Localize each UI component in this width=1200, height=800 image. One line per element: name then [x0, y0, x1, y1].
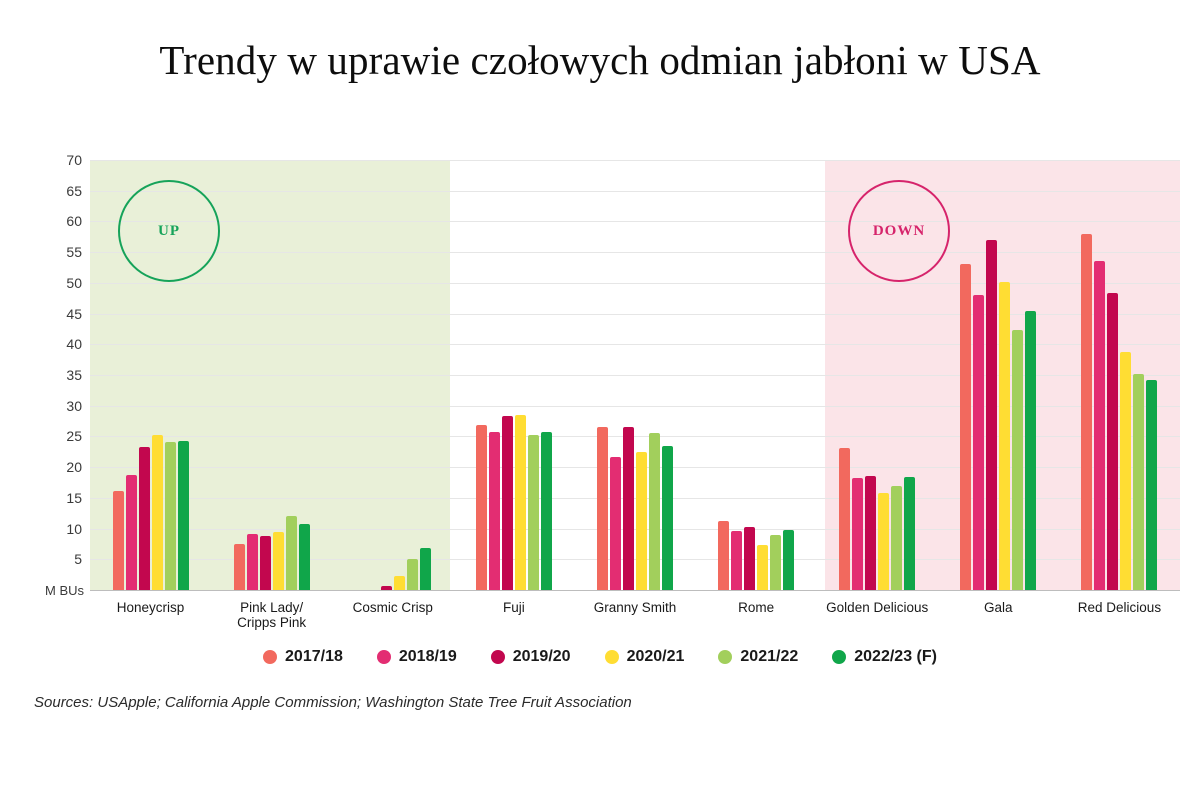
legend-item[interactable]: 2017/18: [263, 648, 343, 666]
category-label: Honeycrisp: [90, 600, 211, 615]
y-axis-tick-label: 55: [36, 245, 82, 259]
bar: [1120, 352, 1131, 590]
legend-label: 2020/21: [627, 648, 685, 666]
bar: [865, 476, 876, 590]
bar: [407, 559, 418, 590]
bar: [1081, 234, 1092, 590]
bar-group: [453, 160, 574, 590]
bar: [286, 516, 297, 590]
bar: [126, 475, 137, 590]
legend-item[interactable]: 2022/23 (F): [832, 648, 937, 666]
legend-swatch-icon: [377, 650, 391, 664]
bar: [541, 432, 552, 590]
bar: [999, 282, 1010, 590]
bar-group: [696, 160, 817, 590]
bar: [973, 295, 984, 590]
bar: [770, 535, 781, 590]
bar: [783, 530, 794, 590]
legend-label: 2021/22: [740, 648, 798, 666]
y-axis-tick-label: 35: [36, 368, 82, 382]
page-title: Trendy w uprawie czołowych odmian jabłon…: [0, 36, 1200, 84]
bar: [476, 425, 487, 590]
bar: [610, 457, 621, 590]
y-axis-unit-label: M BUs: [32, 583, 84, 598]
bar: [152, 435, 163, 590]
bar: [852, 478, 863, 590]
y-axis-tick-label: 50: [36, 276, 82, 290]
annotation-up-circle: UP: [118, 180, 220, 282]
legend-item[interactable]: 2020/21: [605, 648, 685, 666]
bar: [113, 491, 124, 591]
bar: [1146, 380, 1157, 590]
bar: [247, 534, 258, 591]
legend-swatch-icon: [718, 650, 732, 664]
y-axis-tick-label: 60: [36, 214, 82, 228]
category-label: Golden Delicious: [817, 600, 938, 615]
legend-item[interactable]: 2021/22: [718, 648, 798, 666]
bar: [904, 477, 915, 590]
plot-area: [90, 160, 1180, 590]
bar: [731, 531, 742, 590]
category-label: Red Delicious: [1059, 600, 1180, 615]
bar: [757, 545, 768, 590]
y-axis-tick-label: 5: [36, 552, 82, 566]
legend-item[interactable]: 2019/20: [491, 648, 571, 666]
bar: [878, 493, 889, 590]
bar: [649, 433, 660, 590]
bar-group: [1059, 160, 1180, 590]
bar: [1107, 293, 1118, 590]
category-label: Granny Smith: [574, 600, 695, 615]
legend-swatch-icon: [605, 650, 619, 664]
bar: [299, 524, 310, 590]
legend-label: 2022/23 (F): [854, 648, 937, 666]
annotation-down-circle: DOWN: [848, 180, 950, 282]
bar: [891, 486, 902, 590]
y-axis-tick-label: 70: [36, 153, 82, 167]
bar: [744, 527, 755, 590]
legend-label: 2018/19: [399, 648, 457, 666]
sources-note: Sources: USApple; California Apple Commi…: [34, 694, 632, 711]
bar: [420, 548, 431, 590]
category-label: Fuji: [453, 600, 574, 615]
bar: [1094, 261, 1105, 590]
bar: [623, 427, 634, 590]
bar: [178, 441, 189, 590]
legend-label: 2017/18: [285, 648, 343, 666]
bar: [394, 576, 405, 590]
y-axis-tick-label: 25: [36, 429, 82, 443]
bar: [1025, 311, 1036, 591]
bar: [381, 586, 392, 590]
category-label: Pink Lady/Cripps Pink: [211, 600, 332, 630]
x-axis-baseline: [90, 590, 1180, 591]
bar: [165, 442, 176, 590]
bar: [234, 544, 245, 590]
y-axis-tick-label: 10: [36, 522, 82, 536]
bar: [273, 532, 284, 590]
bar: [528, 435, 539, 590]
y-axis-tick-label: 45: [36, 307, 82, 321]
bar: [489, 432, 500, 590]
y-axis-tick-label: 65: [36, 184, 82, 198]
annotation-up-label: UP: [158, 223, 180, 240]
bar: [636, 452, 647, 590]
legend-label: 2019/20: [513, 648, 571, 666]
bar: [662, 446, 673, 590]
y-axis: 706560555045403530252015105: [34, 160, 82, 590]
bar: [960, 264, 971, 590]
legend-swatch-icon: [263, 650, 277, 664]
bar: [986, 240, 997, 590]
bar: [1012, 330, 1023, 590]
y-axis-tick-label: 20: [36, 460, 82, 474]
bar: [597, 427, 608, 590]
bar: [502, 416, 513, 590]
bar-group: [574, 160, 695, 590]
y-axis-tick-label: 30: [36, 399, 82, 413]
y-axis-tick-label: 15: [36, 491, 82, 505]
category-label: Gala: [938, 600, 1059, 615]
bar: [839, 448, 850, 591]
category-label: Rome: [696, 600, 817, 615]
category-label: Cosmic Crisp: [332, 600, 453, 615]
legend-item[interactable]: 2018/19: [377, 648, 457, 666]
bar: [718, 521, 729, 590]
bar: [1133, 374, 1144, 590]
bar: [515, 415, 526, 590]
bar-group: [938, 160, 1059, 590]
legend-swatch-icon: [832, 650, 846, 664]
bar: [260, 536, 271, 590]
bar: [139, 447, 150, 590]
annotation-down-label: DOWN: [873, 223, 925, 240]
y-axis-tick-label: 40: [36, 337, 82, 351]
legend-swatch-icon: [491, 650, 505, 664]
bar-group: [332, 160, 453, 590]
legend: 2017/182018/192019/202020/212021/222022/…: [0, 648, 1200, 666]
bar-group: [211, 160, 332, 590]
